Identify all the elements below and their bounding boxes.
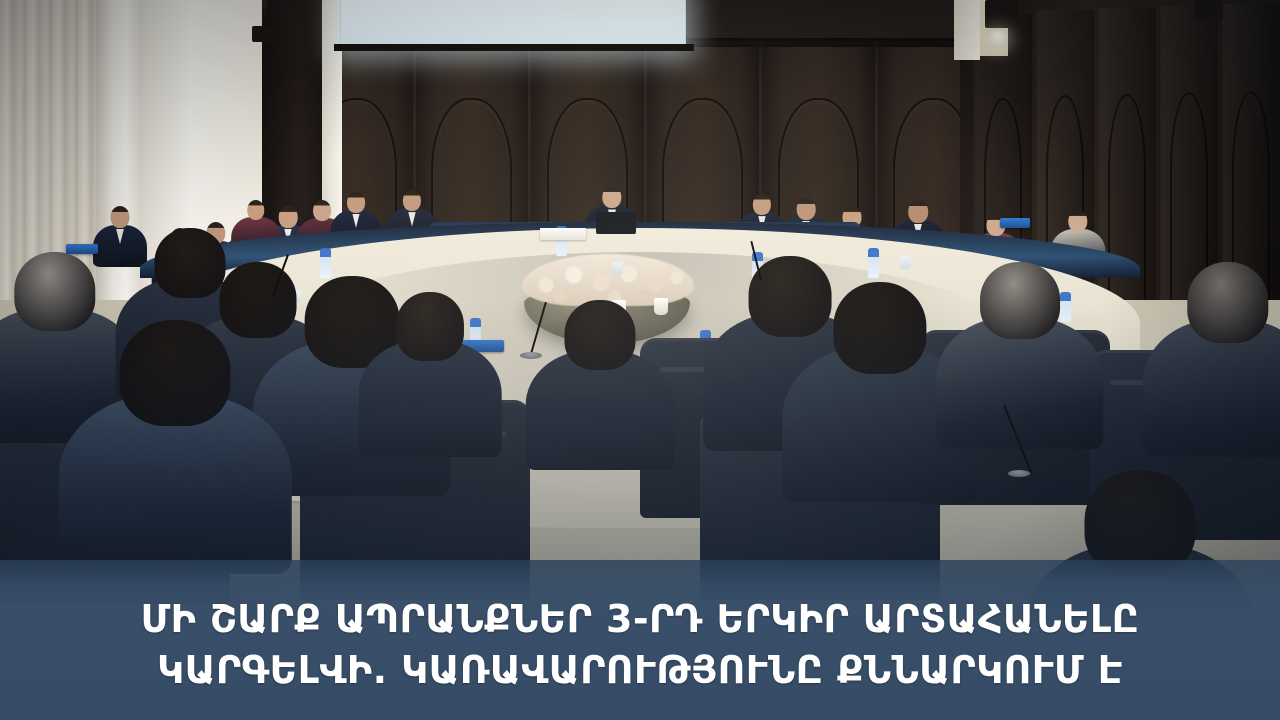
attendee-head: [753, 194, 771, 215]
projector-screen-frame: [334, 44, 694, 51]
news-frame: ՄԻ ՇԱՐՔ ԱՊՐԱՆՔՆԵՐ 3-ՐԴ ԵՐԿԻՐ ԱՐՏԱՀԱՆԵԼԸ …: [0, 0, 1280, 720]
foreground-attendee: [966, 262, 1074, 470]
foreground-attendee: [384, 292, 476, 490]
water-bottle: [868, 248, 879, 278]
wall-sconce: [988, 30, 1008, 47]
attendee-head: [797, 198, 816, 220]
attendee-head: [403, 190, 421, 211]
lower-third-caption-bar: ՄԻ ՇԱՐՔ ԱՊՐԱՆՔՆԵՐ 3-ՐԴ ԵՐԿԻՐ ԱՐՏԱՀԱՆԵԼԸ …: [0, 560, 1280, 720]
ceiling-light-fixture: [1195, 0, 1223, 20]
ceiling-light-fixture: [985, 0, 1019, 28]
attendee-back-of-head: [564, 300, 635, 370]
document-paper: [540, 228, 586, 240]
hall-column: [954, 0, 980, 60]
attendee-back-of-head: [980, 262, 1060, 339]
foreground-attendee: [552, 300, 648, 500]
attendee-back-of-head: [120, 320, 231, 426]
microphone-base: [1008, 470, 1030, 477]
attendee-head: [313, 200, 331, 221]
name-placard: [1000, 218, 1030, 228]
attendee-back-of-head: [1187, 262, 1268, 343]
foreground-attendee: [1173, 262, 1280, 474]
ceiling-light-fixture: [252, 26, 278, 42]
foreground-attendee: [817, 282, 943, 506]
microphone-base: [520, 352, 542, 359]
attendee-head: [279, 206, 298, 228]
paper-cup: [654, 298, 668, 315]
attendee-head: [111, 206, 130, 228]
caption-line-1: ՄԻ ՇԱՐՔ ԱՊՐԱՆՔՆԵՐ 3-ՐԴ ԵՐԿԻՐ ԱՐՏԱՀԱՆԵԼԸ: [141, 595, 1140, 644]
projector-screen: [340, 0, 686, 50]
attendee-head: [908, 200, 928, 223]
attendee-back-of-head: [396, 292, 464, 361]
attendee-back-of-head: [14, 252, 95, 331]
laptop: [596, 212, 636, 234]
foreground-attendee: [100, 320, 250, 560]
caption-line-2: ԿԱՐԳԵԼՎԻ. ԿԱՌԱՎԱՐՈՒԹՅՈՒՆԸ ՔՆՆԱՐԿՈՒՄ Է: [157, 646, 1123, 695]
water-bottle: [320, 248, 331, 278]
attendee-head: [247, 200, 264, 220]
drinking-glass: [900, 256, 911, 269]
drinking-glass: [612, 262, 623, 275]
attendee-head: [347, 192, 365, 213]
attendee-back-of-head: [833, 282, 926, 374]
